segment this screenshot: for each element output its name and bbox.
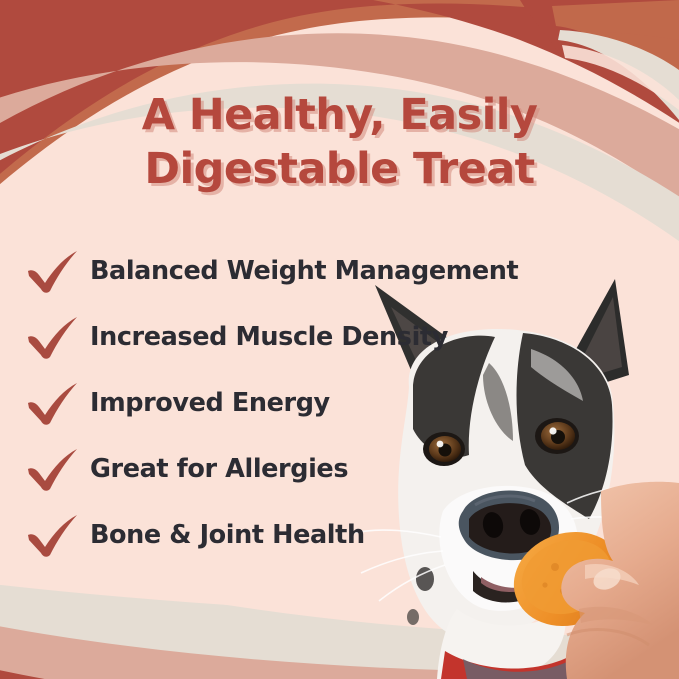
list-item: Balanced Weight Management [22, 238, 662, 304]
check-icon [22, 379, 84, 427]
check-icon [22, 313, 84, 361]
list-item: Improved Energy [22, 370, 662, 436]
list-item: Bone & Joint Health [22, 502, 662, 568]
list-item: Great for Allergies [22, 436, 662, 502]
benefits-list: Balanced Weight Management Increased Mus… [22, 238, 662, 568]
list-item-label: Bone & Joint Health [90, 520, 365, 550]
list-item: Increased Muscle Density [22, 304, 662, 370]
list-item-label: Increased Muscle Density [90, 322, 448, 352]
list-item-label: Great for Allergies [90, 454, 348, 484]
check-icon [22, 247, 84, 295]
promo-banner: A Healthy, Easily Digestable Treat Balan… [0, 0, 679, 679]
check-icon [22, 445, 84, 493]
list-item-label: Improved Energy [90, 388, 330, 418]
list-item-label: Balanced Weight Management [90, 256, 518, 286]
check-icon [22, 511, 84, 559]
